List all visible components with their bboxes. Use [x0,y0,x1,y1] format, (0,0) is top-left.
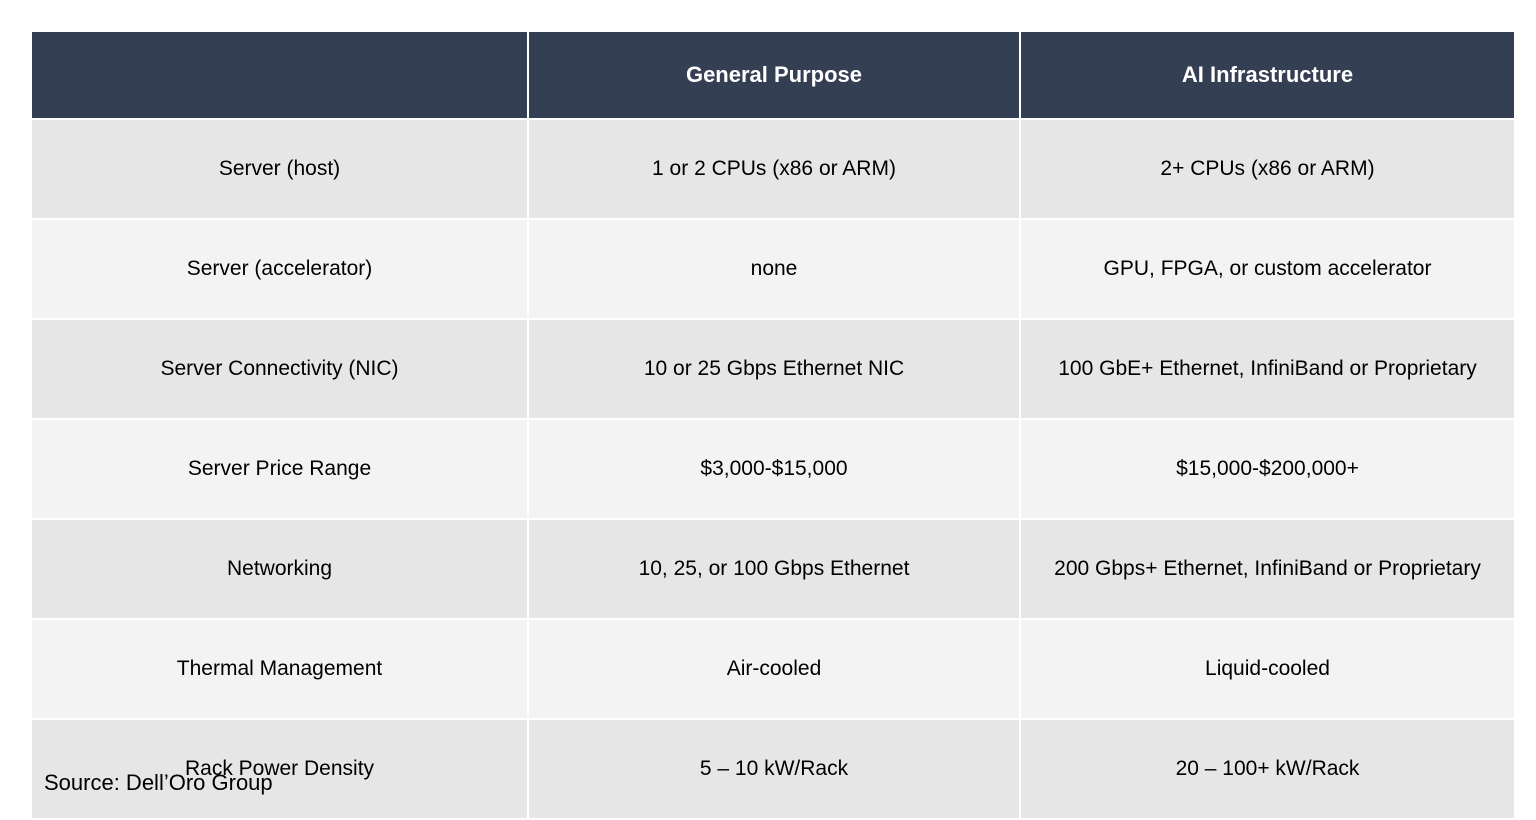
slide-canvas: General Purpose AI Infrastructure Server… [0,0,1536,818]
cell-ai-infrastructure-server-price-range: $15,000-$200,000+ [1021,420,1514,518]
header-cell-ai-infrastructure: AI Infrastructure [1021,32,1514,118]
row-label-networking: Networking [32,520,527,618]
table-row: Rack Power Density 5 – 10 kW/Rack 20 – 1… [32,720,1514,818]
table-body: Server (host) 1 or 2 CPUs (x86 or ARM) 2… [32,120,1514,818]
row-label-thermal-management: Thermal Management [32,620,527,718]
row-label-server-connectivity-nic: Server Connectivity (NIC) [32,320,527,418]
header-row: General Purpose AI Infrastructure [32,32,1514,118]
source-note: Source: Dell’Oro Group [44,770,273,796]
row-label-rack-power-density: Rack Power Density [32,720,527,818]
table-row: Thermal Management Air-cooled Liquid-coo… [32,620,1514,718]
cell-general-purpose-server-connectivity-nic: 10 or 25 Gbps Ethernet NIC [529,320,1019,418]
comparison-table-container: General Purpose AI Infrastructure Server… [32,32,1508,818]
row-label-server-price-range: Server Price Range [32,420,527,518]
cell-general-purpose-rack-power-density: 5 – 10 kW/Rack [529,720,1019,818]
table-row: Networking 10, 25, or 100 Gbps Ethernet … [32,520,1514,618]
cell-general-purpose-server-accelerator: none [529,220,1019,318]
cell-ai-infrastructure-thermal-management: Liquid-cooled [1021,620,1514,718]
cell-general-purpose-thermal-management: Air-cooled [529,620,1019,718]
cell-ai-infrastructure-rack-power-density: 20 – 100+ kW/Rack [1021,720,1514,818]
header-cell-general-purpose: General Purpose [529,32,1019,118]
table-header: General Purpose AI Infrastructure [32,32,1514,118]
table-row: Server (host) 1 or 2 CPUs (x86 or ARM) 2… [32,120,1514,218]
row-label-server-host: Server (host) [32,120,527,218]
comparison-table: General Purpose AI Infrastructure Server… [30,30,1516,820]
header-cell-empty-corner [32,32,527,118]
table-row: Server Connectivity (NIC) 10 or 25 Gbps … [32,320,1514,418]
cell-general-purpose-server-price-range: $3,000-$15,000 [529,420,1019,518]
cell-ai-infrastructure-server-accelerator: GPU, FPGA, or custom accelerator [1021,220,1514,318]
table-row: Server (accelerator) none GPU, FPGA, or … [32,220,1514,318]
cell-ai-infrastructure-networking: 200 Gbps+ Ethernet, InfiniBand or Propri… [1021,520,1514,618]
cell-general-purpose-networking: 10, 25, or 100 Gbps Ethernet [529,520,1019,618]
cell-ai-infrastructure-server-connectivity-nic: 100 GbE+ Ethernet, InfiniBand or Proprie… [1021,320,1514,418]
cell-general-purpose-server-host: 1 or 2 CPUs (x86 or ARM) [529,120,1019,218]
row-label-server-accelerator: Server (accelerator) [32,220,527,318]
table-row: Server Price Range $3,000-$15,000 $15,00… [32,420,1514,518]
cell-ai-infrastructure-server-host: 2+ CPUs (x86 or ARM) [1021,120,1514,218]
